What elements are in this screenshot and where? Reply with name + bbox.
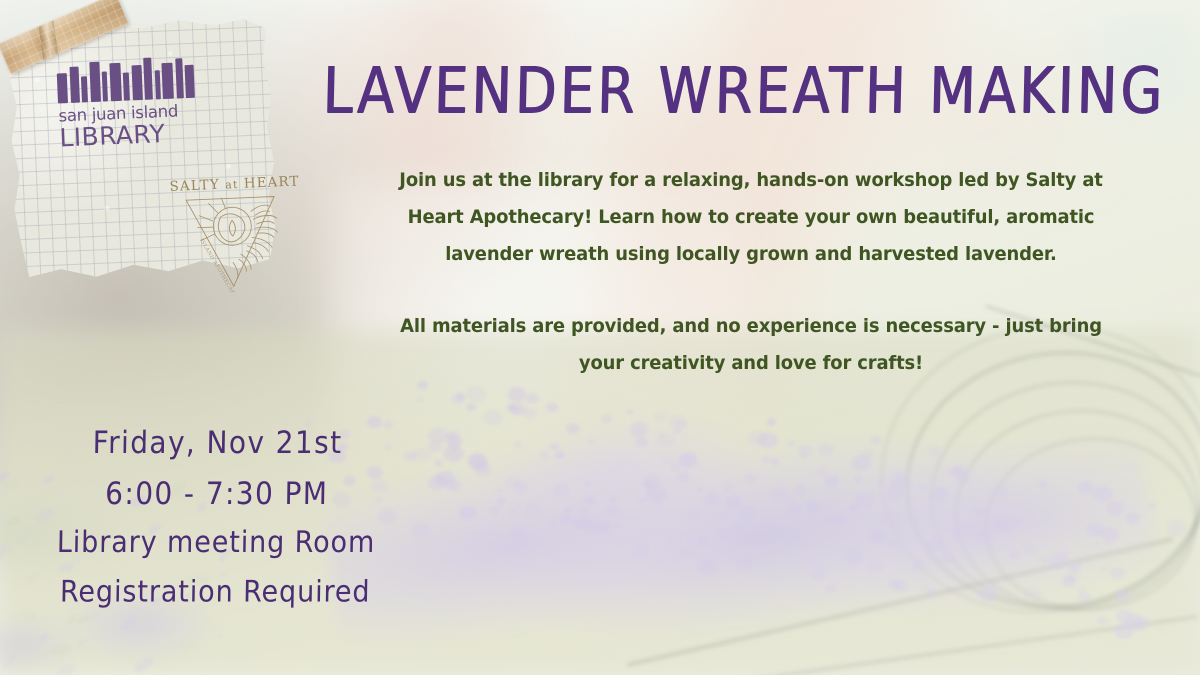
description-line: your creativity and love for crafts! [383,346,1118,383]
lavender-floret [815,466,830,478]
description-line: Heart Apothecary! Learn how to create yo… [383,200,1118,237]
lavender-floret [825,585,835,593]
lavender-floret [564,507,572,514]
lavender-floret [818,498,839,515]
lavender-floret [1100,566,1106,571]
lavender-floret [635,437,648,447]
salty-wordmark-left: SALTY [169,177,220,195]
lavender-floret [555,451,565,459]
lavender-floret [801,453,807,458]
lavender-floret [508,507,519,516]
lavender-floret [771,458,780,465]
lavender-floret [1097,616,1108,625]
lavender-floret [879,510,900,527]
book-spine-bar [131,65,142,100]
lavender-floret [810,568,825,580]
book-spine-bar [109,63,122,101]
lavender-floret [927,537,944,551]
lavender-floret [824,476,838,488]
lavender-floret [1148,503,1156,510]
book-spine-bar [69,67,79,103]
event-location: Library meeting Room [10,520,423,569]
page-title: LAVENDER WREATH MAKING [299,58,1190,125]
lavender-floret [762,456,771,463]
lavender-floret [887,540,899,550]
lavender-floret [525,393,538,404]
lavender-floret [767,418,776,425]
lavender-floret [1110,567,1125,579]
lavender-floret [677,472,689,482]
lavender-floret [553,484,569,497]
lavender-floret [1041,558,1048,563]
event-date: Friday, Nov 21st [11,418,424,469]
lavender-floret [784,496,795,505]
event-registration-note: Registration Required [9,569,422,618]
book-spine-bar [89,62,101,102]
lavender-floret [761,522,767,527]
lavender-floret [893,580,908,592]
lavender-floret [928,446,941,457]
lavender-floret [604,504,620,516]
lavender-floret [858,514,864,519]
lavender-floret [895,477,909,489]
book-spine-bar [161,63,173,99]
lavender-floret [861,449,874,460]
lavender-floret [584,495,595,504]
lavender-floret [1008,550,1020,560]
lavender-floret [725,495,742,509]
lavender-floret [540,451,549,458]
lavender-floret [566,423,580,434]
lavender-floret [654,412,666,422]
lavender-floret [978,586,998,602]
lavender-floret [1106,501,1125,516]
lavender-floret [746,505,752,510]
logo-note-card: san juan island LIBRARY SALTY at HEART [3,13,282,286]
lavender-floret [632,545,648,558]
lavender-floret [869,529,887,544]
event-time: 6:00 - 7:30 PM [10,469,423,520]
lavender-floret [745,555,755,563]
lavender-floret [550,443,559,450]
lavender-floret [524,502,543,517]
lavender-floret [609,495,617,502]
lavender-floret [524,408,537,419]
book-spines-icon [56,56,198,104]
lavender-floret [630,422,649,437]
lavender-floret [1167,520,1187,536]
lavender-floret [968,522,988,538]
book-spine-bar [81,76,88,102]
lavender-floret [772,535,779,540]
lavender-floret [466,403,476,411]
lavender-floret [613,522,620,528]
lavender-floret [723,482,734,491]
lavender-floret [446,480,461,492]
lavender-floret [818,443,834,455]
lavender-floret [1094,542,1102,548]
lavender-floret [678,452,698,468]
description-line: All materials are provided, and no exper… [383,309,1118,346]
book-spine-bar [57,73,68,103]
event-details-block: Friday, Nov 21st 6:00 - 7:30 PM Library … [9,418,424,618]
salty-at-heart-logo: SALTY at HEART ISLAND APOTHE [167,174,296,295]
lavender-floret [451,394,464,405]
book-spine-bar [175,58,184,98]
lavender-floret [748,431,767,446]
book-spine-bar [143,58,153,100]
lavender-floret [514,442,522,448]
lavender-floret [448,430,460,439]
lavender-floret [559,514,571,524]
lavender-floret [867,560,884,573]
lavender-floret [717,528,731,539]
lavender-floret [795,486,806,494]
lavender-floret [639,498,645,503]
lavender-floret [629,517,635,522]
lavender-floret [483,410,503,426]
lavender-floret [858,462,863,466]
lavender-floret [428,428,448,444]
lavender-floret [730,520,747,534]
book-spine-bar [123,72,130,100]
lavender-floret [792,535,800,541]
tape-crease [39,20,58,60]
lavender-floret [822,515,838,527]
lavender-floret [697,537,707,545]
salty-wordmark-right: HEART [243,173,299,191]
lavender-floret [588,439,595,445]
lavender-floret [704,492,721,505]
lavender-floret [489,528,498,536]
lavender-floret [601,414,612,423]
event-poster: san juan island LIBRARY SALTY at HEART [0,0,1200,675]
salty-arc-text: ISLAND APOTHECARY [198,238,238,295]
lavender-floret [1049,553,1069,569]
lavender-floret [931,488,950,504]
lavender-floret [1077,592,1091,603]
lavender-floret [994,486,1007,497]
book-spine-bar [154,70,160,99]
lavender-floret [804,500,818,511]
lavender-floret [417,397,424,403]
lavender-floret [466,386,486,402]
lavender-floret [508,387,526,401]
lavender-floret [1126,512,1140,524]
lavender-floret [855,493,875,509]
lavender-floret [657,433,676,448]
book-spine-bar [102,71,108,101]
description-block: Join us at the library for a relaxing, h… [383,163,1118,383]
lavender-floret [459,506,477,520]
lavender-floret [676,420,687,429]
lavender-floret [918,484,927,492]
lavender-floret [742,562,752,570]
san-juan-island-library-logo: san juan island LIBRARY [56,56,200,152]
lavender-floret [434,460,443,467]
paragraph-spacer [383,273,1118,309]
lavender-floret [489,506,499,514]
lavender-floret [496,497,505,504]
lavender-floret [546,403,557,412]
lavender-floret [844,549,863,565]
lavender-floret [698,559,718,575]
lavender-floret [469,454,487,469]
book-spine-bar [185,65,195,98]
description-line: Join us at the library for a relaxing, h… [383,163,1118,200]
lavender-floret [497,488,503,493]
lavender-floret [671,463,680,470]
lavender-floret [1062,576,1076,587]
salty-wordmark-mid: at [225,178,239,192]
description-line: lavender wreath using locally grown and … [383,237,1118,274]
lavender-floret [914,559,924,567]
